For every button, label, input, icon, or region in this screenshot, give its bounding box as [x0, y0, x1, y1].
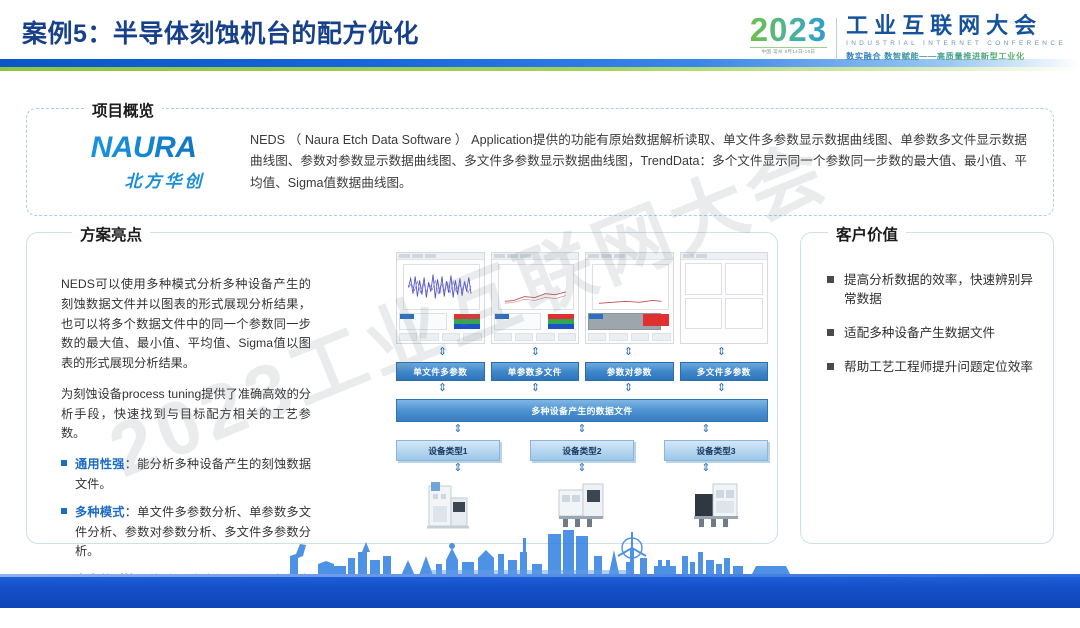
data-layer-box[interactable]: 多种设备产生的数据文件: [396, 399, 768, 422]
equipment-box-type-3[interactable]: 设备类型3: [664, 440, 768, 461]
screenshot-footer: [494, 313, 577, 341]
solution-bullet-label: 通用性强: [75, 457, 125, 471]
up-down-arrow-icon: ⇕: [520, 463, 644, 474]
divider-green-bar: [0, 67, 1080, 71]
overview-description: NEDS （ Naura Etch Data Software ） Applic…: [242, 130, 1053, 195]
up-down-arrow-icon: ⇕: [520, 424, 644, 435]
up-down-arrow-icon: ⇕: [489, 383, 582, 394]
screenshot-legend: [643, 314, 669, 329]
up-down-arrow-icon: ⇕: [644, 424, 768, 435]
screenshot-multi-file-multi-param: [680, 252, 769, 344]
screenshot-buttons: [588, 333, 671, 341]
screenshot-toolbar: [681, 253, 768, 260]
value-section-title: 客户价值: [828, 223, 906, 245]
conference-name-cn: 工业互联网大会: [846, 15, 1066, 37]
screenshot-single-param-multi-file: [491, 252, 580, 344]
etch-machine-icon: [685, 480, 747, 530]
sea-band: [0, 574, 1080, 608]
conference-name-block: 工业互联网大会 INDUSTRIAL INTERNET CONFERENCE 数…: [846, 14, 1066, 62]
screenshot-footer: [399, 313, 482, 341]
up-down-arrow-icon: ⇕: [644, 463, 768, 474]
screenshot-plot-area: [498, 264, 575, 310]
up-down-arrow-icon: ⇕: [675, 383, 768, 394]
scatter-icon: [593, 265, 668, 309]
etch-machine-icon: [417, 480, 479, 530]
arrow-row-screenshots-to-modes: ⇕ ⇕ ⇕ ⇕: [396, 347, 768, 358]
quad-cell: [685, 263, 723, 295]
solution-bullet-label: 多种模式: [75, 505, 125, 519]
etch-machine-icon: [551, 480, 613, 530]
waveform-icon: [404, 265, 479, 309]
up-down-arrow-icon: ⇕: [396, 347, 489, 358]
up-down-arrow-icon: ⇕: [396, 424, 520, 435]
conference-date: 中国·常州 8月14日-16日: [750, 49, 827, 55]
screenshot-toolbar: [492, 253, 579, 260]
quad-cell: [685, 298, 723, 330]
arrow-row-equipment-to-machines: ⇕ ⇕ ⇕: [396, 463, 768, 474]
quad-cell: [725, 263, 763, 295]
value-bullet: 提高分析数据的效率，快速辨别异常数据: [827, 271, 1033, 309]
solution-paragraph-1: NEDS可以使用多种模式分析多种设备产生的刻蚀数据文件并以图表的形式展现分析结果…: [61, 275, 311, 374]
screenshot-buttons: [399, 333, 482, 341]
machine-photo-row: [396, 478, 768, 530]
page-title: 案例5：半导体刻蚀机台的配方优化: [22, 14, 419, 50]
up-down-arrow-icon: ⇕: [675, 347, 768, 358]
mode-box-single-file-multi-param[interactable]: 单文件多参数: [396, 362, 485, 381]
screenshot-param-grid: [399, 313, 447, 330]
conference-subtitle: 数实融合 数智赋能——高质量推进新型工业化: [846, 50, 1066, 62]
machine-photo-2: [530, 478, 634, 530]
up-down-arrow-icon: ⇕: [489, 347, 582, 358]
solution-paragraph-2: 为刻蚀设备process tuning提供了准确高效的分析手段，快速找到与目标配…: [61, 385, 311, 444]
up-down-arrow-icon: ⇕: [396, 463, 520, 474]
mode-box-row: 单文件多参数 单参数多文件 参数对参数 多文件多参数: [396, 362, 768, 381]
up-down-arrow-icon: ⇕: [396, 383, 489, 394]
screenshot-toolbar: [586, 253, 673, 260]
screenshot-param-vs-param: [585, 252, 674, 344]
mode-box-multi-file-multi-param[interactable]: 多文件多参数: [680, 362, 769, 381]
footer-skyline: [0, 530, 1080, 608]
screenshot-legend: [454, 314, 480, 329]
naura-chinese-name: 北方华创: [45, 167, 242, 192]
conference-year: 2023: [750, 14, 827, 45]
overview-panel: NAURA 北方华创 NEDS （ Naura Etch Data Softwa…: [26, 108, 1054, 216]
equipment-box-type-1[interactable]: 设备类型1: [396, 440, 500, 461]
solution-section-title: 方案亮点: [72, 223, 150, 245]
screenshot-footer: [588, 313, 671, 341]
naura-logo: NAURA 北方华创: [27, 133, 242, 192]
screenshot-plot-area: [403, 264, 480, 310]
machine-photo-1: [396, 478, 500, 530]
mode-box-single-param-multi-file[interactable]: 单参数多文件: [491, 362, 580, 381]
conference-logo: 2023 中国·常州 8月14日-16日 工业互联网大会 INDUSTRIAL …: [750, 14, 1066, 62]
screenshot-strip: [396, 252, 768, 344]
city-silhouette-icon: [0, 530, 1080, 578]
arrow-row-modes-to-data: ⇕ ⇕ ⇕ ⇕: [396, 383, 768, 394]
conference-year-block: 2023 中国·常州 8月14日-16日: [750, 14, 836, 55]
screenshot-quad-grid: [685, 263, 764, 329]
equipment-box-row: 设备类型1 设备类型2 设备类型3: [396, 440, 768, 461]
architecture-diagram: ⇕ ⇕ ⇕ ⇕ 单文件多参数 单参数多文件 参数对参数 多文件多参数 ⇕ ⇕ ⇕…: [396, 252, 768, 537]
value-bullet: 帮助工艺工程师提升问题定位效率: [827, 358, 1033, 377]
value-bullet-list: 提高分析数据的效率，快速辨别异常数据 适配多种设备产生数据文件 帮助工艺工程师提…: [827, 271, 1033, 392]
screenshot-param-grid: [494, 313, 542, 330]
up-down-arrow-icon: ⇕: [582, 383, 675, 394]
machine-photo-3: [664, 478, 768, 530]
conference-logo-separator: [836, 18, 837, 60]
screenshot-single-file-multi-param: [396, 252, 485, 344]
value-bullet: 适配多种设备产生数据文件: [827, 324, 1033, 343]
screenshot-toolbar: [397, 253, 484, 260]
line-chart-icon: [499, 265, 574, 309]
value-panel: 提高分析数据的效率，快速辨别异常数据 适配多种设备产生数据文件 帮助工艺工程师提…: [800, 232, 1054, 544]
mode-box-param-vs-param[interactable]: 参数对参数: [585, 362, 674, 381]
quad-cell: [725, 298, 763, 330]
arrow-row-data-to-equipment: ⇕ ⇕ ⇕: [396, 424, 768, 435]
overview-section-title: 项目概览: [84, 99, 162, 121]
up-down-arrow-icon: ⇕: [582, 347, 675, 358]
screenshot-legend: [548, 314, 574, 329]
screenshot-buttons: [494, 333, 577, 341]
naura-wordmark: NAURA: [45, 133, 242, 163]
screenshot-plot-area: [592, 264, 669, 310]
conference-name-en: INDUSTRIAL INTERNET CONFERENCE: [846, 40, 1066, 47]
equipment-box-type-2[interactable]: 设备类型2: [530, 440, 634, 461]
solution-bullet: 通用性强：能分析多种设备产生的刻蚀数据文件。: [61, 455, 311, 494]
